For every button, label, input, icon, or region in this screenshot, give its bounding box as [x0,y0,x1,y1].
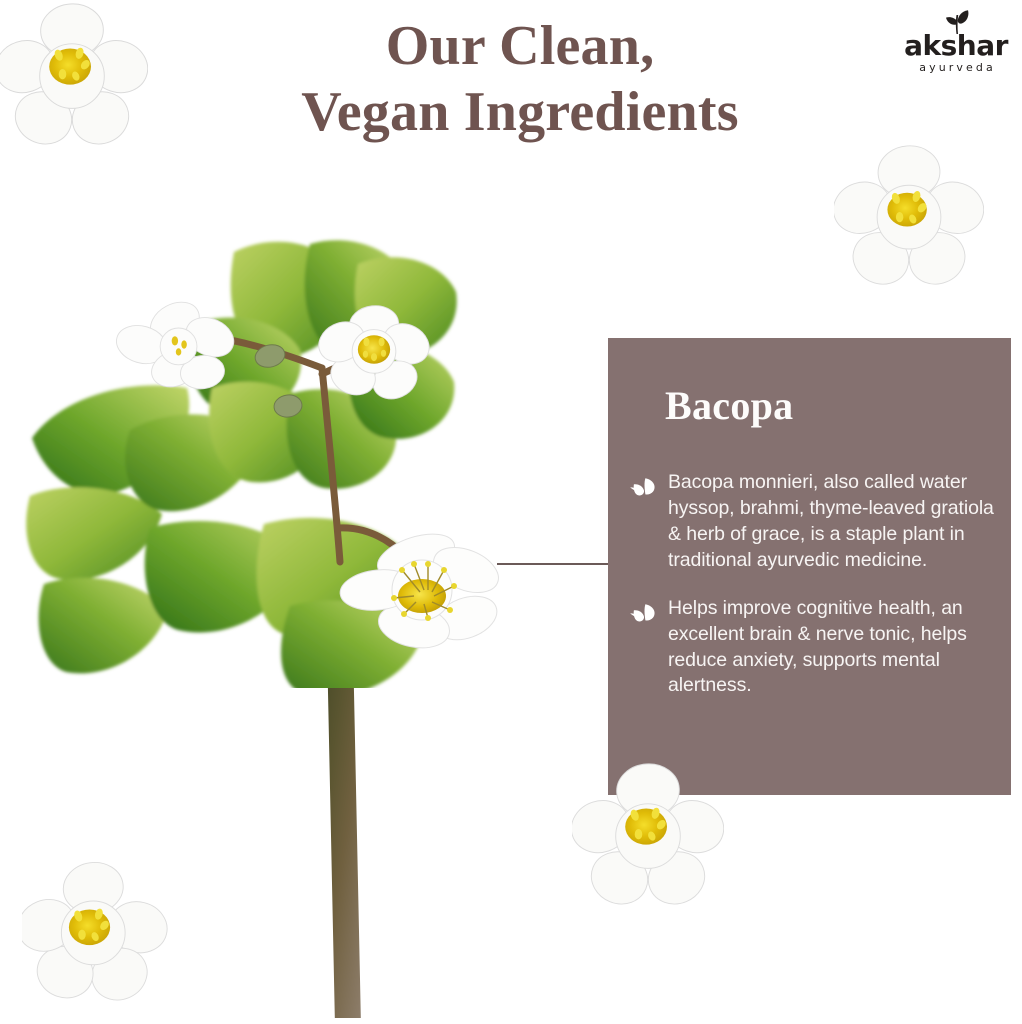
leaf-bullet-icon [630,602,658,624]
list-item-text: Bacopa monnieri, also called water hysso… [668,470,1011,574]
brand-logo: akshar ayurveda [898,8,1014,82]
leaf-bullet-icon [630,476,658,498]
list-item: Bacopa monnieri, also called water hysso… [626,470,1011,574]
flower-bottom-middle-icon [572,762,724,914]
page-title: Our Clean, Vegan Ingredients [180,14,860,145]
plant-foliage [22,228,522,688]
flower-bottom-left-icon [22,856,172,1006]
ingredient-bullet-list: Bacopa monnieri, also called water hysso… [626,470,1011,721]
list-item-text: Helps improve cognitive health, an excel… [668,596,1011,700]
list-item: Helps improve cognitive health, an excel… [626,596,1011,700]
logo-tagline: ayurveda [898,62,1014,73]
flower-top-left-icon [0,2,148,154]
logo-wordmark: akshar [898,32,1014,60]
ingredient-name-heading: Bacopa [665,386,793,426]
poster-canvas: Bacopa Bacopa monnieri, also called wate… [0,0,1022,1024]
ingredient-info-panel: Bacopa Bacopa monnieri, also called wate… [608,338,1011,795]
flower-top-right-icon [834,144,984,294]
callout-connector-line [497,563,610,565]
